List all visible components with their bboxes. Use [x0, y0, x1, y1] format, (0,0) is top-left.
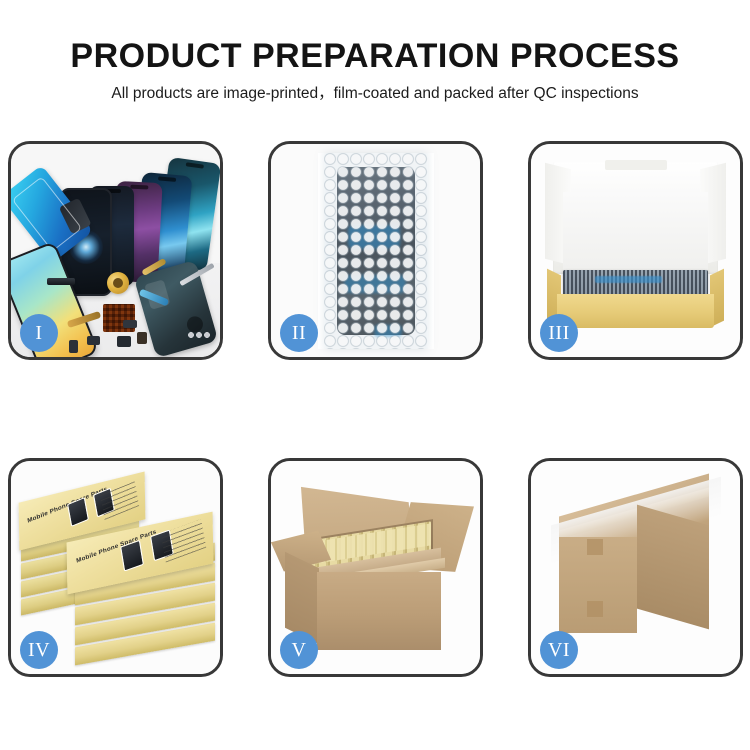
step-panel-3[interactable]: III: [528, 141, 743, 360]
page-title: PRODUCT PREPARATION PROCESS: [0, 0, 750, 76]
step-badge-4: IV: [20, 631, 58, 669]
step-badge-3: III: [540, 314, 578, 352]
step-badge-2: II: [280, 314, 318, 352]
step-panel-6[interactable]: VI: [528, 458, 743, 677]
bubble-highlights: [324, 153, 428, 349]
step-panel-2[interactable]: II: [268, 141, 483, 360]
small-part-a: [69, 340, 78, 353]
step-panel-4[interactable]: Mobile Phone Spare Parts Mobile Phone Sp…: [8, 458, 223, 677]
page-header: PRODUCT PREPARATION PROCESS All products…: [0, 0, 750, 104]
mailer-lid-tab: [605, 160, 667, 170]
sealed-carton-right-panel: [637, 505, 709, 630]
carton-front-panel: [317, 572, 441, 650]
mailer-front-wall: [557, 294, 714, 328]
phone-notch-icon: [186, 162, 204, 168]
step-panel-5[interactable]: V: [268, 458, 483, 677]
step-badge-1: I: [20, 314, 58, 352]
mailer-interior: [563, 192, 708, 270]
screws-part: [188, 331, 210, 339]
wireless-coil-part: [107, 272, 129, 294]
phone-notch-icon: [158, 176, 176, 182]
box-spec-text-lines: [161, 519, 206, 563]
carton-tab-top: [587, 539, 603, 555]
speaker-part: [47, 278, 75, 285]
bubble-wrap-sleeve: [324, 153, 428, 349]
step-badge-6: VI: [540, 631, 578, 669]
small-part-c: [117, 336, 131, 347]
small-part-e: [123, 320, 137, 328]
page-root: PRODUCT PREPARATION PROCESS All products…: [0, 0, 750, 750]
small-part-b: [87, 336, 100, 345]
step-panel-1[interactable]: I: [8, 141, 223, 360]
page-subtitle: All products are image-printed，film-coat…: [0, 76, 750, 104]
phone-notch-icon: [130, 185, 148, 190]
step-badge-5: V: [280, 631, 318, 669]
carton-tab-bottom: [587, 601, 603, 617]
small-part-d: [137, 332, 147, 344]
process-steps-grid: I II: [8, 141, 743, 677]
